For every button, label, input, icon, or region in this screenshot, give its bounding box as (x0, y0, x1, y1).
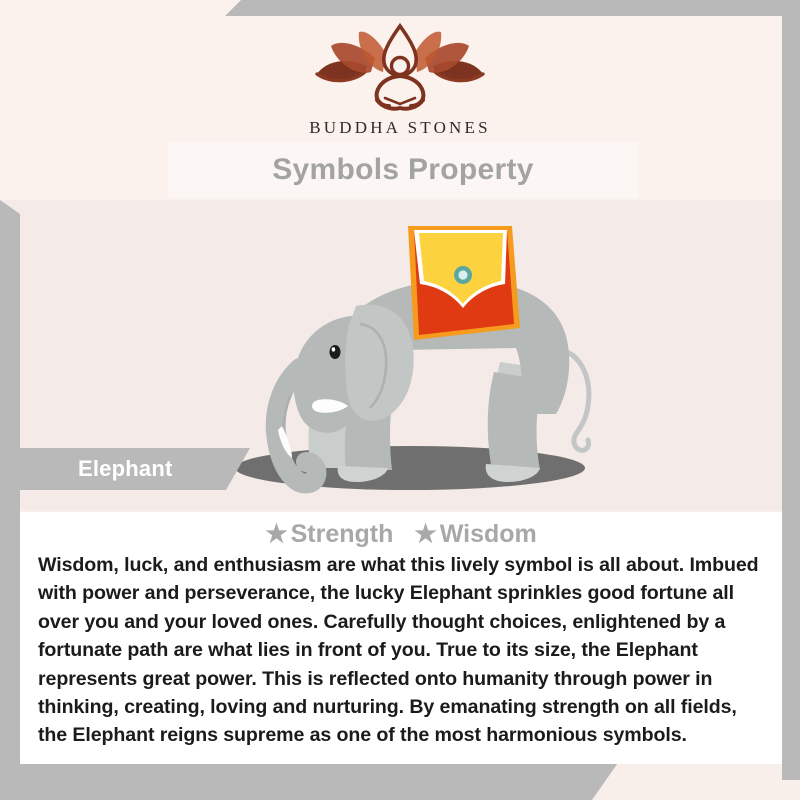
attribute-wisdom: ★Wisdom (414, 519, 536, 549)
elephant-blanket (408, 226, 520, 340)
attribute-strength: ★Strength (265, 519, 393, 549)
page-title: Symbols Property (272, 153, 534, 187)
symbol-tab-label: Elephant (78, 456, 173, 482)
star-icon: ★ (414, 520, 436, 548)
description-text: Wisdom, luck, and enthusiasm are what th… (38, 551, 766, 750)
title-banner: Symbols Property (168, 142, 638, 198)
frame-bar-top (225, 0, 800, 16)
attribute-label: Wisdom (440, 520, 537, 548)
symbol-tab[interactable]: Elephant (20, 448, 250, 490)
infographic-page: BUDDHA STONES Symbols Property (0, 0, 800, 800)
brand-logo: BUDDHA STONES (0, 22, 800, 138)
attribute-label: Strength (291, 520, 394, 548)
description-card: ★Strength ★Wisdom Wisdom, luck, and enth… (20, 512, 782, 764)
lotus-meditation-icon (305, 22, 495, 114)
elephant-eye (330, 345, 341, 359)
attribute-list: ★Strength ★Wisdom (20, 519, 782, 549)
star-icon: ★ (265, 520, 287, 548)
brand-name: BUDDHA STONES (0, 118, 800, 138)
frame-bar-bottom (0, 760, 620, 800)
